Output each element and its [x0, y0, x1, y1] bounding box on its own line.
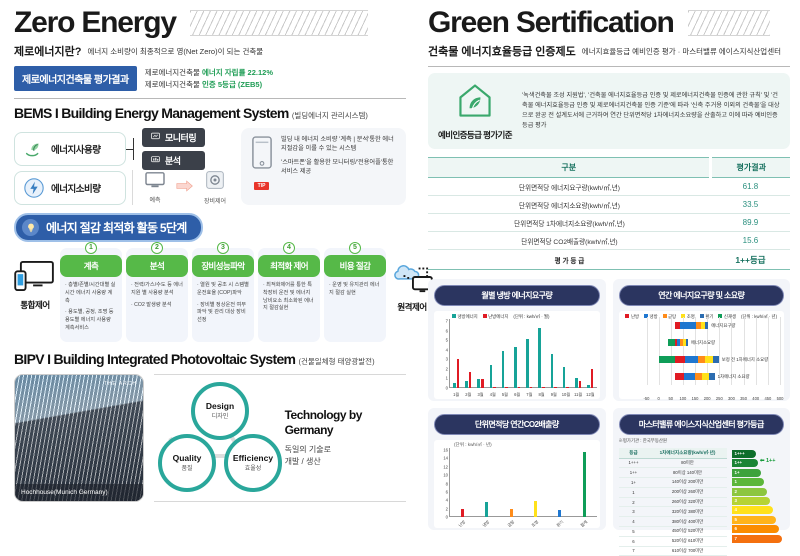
y-tick: 5 [446, 338, 448, 343]
x-axis-monthly: 1월2월3월4월5월6월7월8월9월10월11월12월 [450, 392, 597, 398]
step-body: · 전력/가스/수도 등 에너지원 별 사용량 분석· CO2 발생량 분석 [126, 277, 188, 309]
evaluation-result-row: 제로에너지건축물 평가결과 제로에너지건축물 에너지 자립률 22.12% 제로… [14, 66, 406, 91]
venn-circle-efficiency: Efficiency 효율성 [224, 434, 282, 492]
x-tick: 9월 [548, 392, 560, 398]
bar-group [572, 321, 584, 388]
zeb-grade-value: 인증 5등급 (ZEB5) [202, 80, 262, 89]
x-tick: 4월 [487, 392, 499, 398]
bar [457, 359, 460, 388]
technology-sub1: 독일의 기술로 [285, 444, 406, 456]
x-tick: 8월 [535, 392, 547, 398]
legend-monthly: 냉방에너지난방에너지(단위 : kwh/㎡ · 월) [452, 312, 598, 320]
analysis-label: 분석 [165, 154, 181, 167]
grade-bar-3: 3 [732, 497, 770, 505]
tip-badge: TIP [254, 182, 270, 190]
bar-label: 에너지소요량 [691, 340, 715, 346]
connector-line [126, 132, 142, 166]
photo-caption: Hochhouse(Munich Germany) [15, 484, 143, 501]
step-card-2: 2 분석 · 전력/가스/수도 등 에너지원 별 사용량 분석· CO2 발생량… [126, 248, 188, 342]
hatch-decoration [190, 10, 368, 36]
bar-segment [675, 356, 685, 363]
y-tick: 1 [446, 376, 448, 381]
energy-usage-row: 에너지사용량 모니터링 [14, 128, 231, 170]
table-row: 단위면적당 에너지소요량(kwh/㎡,년)33.5 [428, 196, 790, 214]
bar-stack [675, 373, 715, 380]
building-photo: THE ARCH Hochhouse(Munich Germany) [14, 374, 144, 502]
bar-label: 1차에너지 소요량 [718, 374, 750, 380]
monitor-mobile-icon [14, 279, 56, 296]
bar-segment [684, 373, 696, 380]
leaf-hand-icon [23, 138, 45, 160]
right-page-title: Green Sertification [428, 8, 674, 38]
grade-row: 5450이상 520미만 [619, 526, 727, 536]
bar [591, 369, 594, 388]
x-tick: 10월 [560, 392, 572, 398]
criteria-text: '녹색건축물 조성 지원법', '건축물 에너지효율등급 인증 및 제로에너지건… [522, 91, 780, 132]
bar-row: 1차에너지 소요량 [647, 368, 781, 385]
bar [514, 347, 517, 388]
x-tick: 7월 [523, 392, 535, 398]
criteria-label: 예비인증등급 평가기준 [438, 129, 512, 141]
left-arrow-icon: ⬅ 1++ [760, 458, 776, 464]
predict-item: 예측 [139, 171, 171, 204]
chart-card-grade: 마스터밸류 에이스지식산업센터 평가등급 ※평가기관 : 한국부동산원 등급 1… [613, 408, 791, 530]
energy-consumption-card: 에너지소비량 [14, 171, 126, 205]
gridline [780, 317, 781, 385]
grade-level: 5 [619, 526, 649, 536]
y-tick: 6 [446, 489, 448, 494]
bar-segment [713, 356, 719, 363]
right-subtitle: 건축물 에너지효율등급 인증제도 [428, 43, 576, 59]
step-number: 4 [283, 242, 295, 254]
grade-content: 등급 1차에너지소요량(kwh/㎡·년) 1+++80미만1++80이상 140… [619, 448, 785, 556]
step-body: · 운영 및 유지관리 에너지 절감 실현 [324, 277, 386, 298]
grade-source: ※평가기관 : 한국부동산원 [619, 438, 785, 444]
chart-card-annual: 연간 에너지요구량 및 소요량 난방냉방급탕조명환기신재생(단위 : kwh/㎡… [613, 279, 791, 401]
bar [510, 509, 513, 517]
step-card-4: 4 최적화 제어 · 최적화제어를 통한 특착장비 운전 및 에너지 낭비요소 … [258, 248, 320, 342]
self-sufficiency-row: 제로에너지건축물 에너지 자립률 22.12% [145, 67, 273, 78]
grade-bar-4: 4 [732, 506, 773, 514]
bipv-content: THE ARCH Hochhouse(Munich Germany) Desig… [14, 374, 406, 502]
grade-level: 4 [619, 517, 649, 527]
bar-row: 에너지소요량 [647, 334, 781, 351]
energy-usage-label: 에너지사용량 [51, 142, 100, 156]
cell-category: 단위면적당 1차에너지소요량(kwh/㎡,년) [428, 214, 711, 232]
bar-stack [675, 356, 719, 363]
bar [490, 365, 493, 388]
cell-category: 단위면적당 에너지소요량(kwh/㎡,년) [428, 196, 711, 214]
step-number: 3 [217, 242, 229, 254]
tip-item-2: '스마트폰'을 활용한 모니터링/'전용어플'통한 서비스 제공 [281, 159, 398, 177]
bems-title-text: BEMS I Building Energy Management System [14, 105, 289, 121]
energy-consumption-label: 에너지소비량 [51, 181, 100, 195]
unit-co2: (단위 : kwh/㎡ · 년) [454, 442, 492, 448]
bar-group [499, 450, 523, 517]
zero-energy-question-desc: 에너지 소비량이 최종적으로 영(Net Zero)이 되는 건축물 [87, 46, 263, 57]
bar [587, 385, 590, 388]
bems-content: 에너지사용량 모니터링 [14, 128, 406, 205]
infographic-page: Zero Energy 제로에너지란? 에너지 소비량이 최종적으로 영(Net… [0, 0, 800, 500]
step-heading: 최적화 제어 [258, 255, 320, 277]
x-tick: 12월 [584, 392, 596, 398]
grade-table: 등급 1차에너지소요량(kwh/㎡·년) 1+++80미만1++80이상 140… [619, 448, 727, 556]
bar [534, 501, 537, 517]
grade-row: 7610이상 700미만 [619, 546, 727, 556]
cell-value: 15.6 [711, 232, 790, 250]
equipment-control-item: 장비제어 [199, 170, 231, 205]
bar-stack [675, 339, 688, 346]
grade-bar-5: 5 [732, 516, 777, 524]
bar [554, 387, 557, 388]
venn-diagram: Design 디자인 Quality 품질 Efficiency 효율성 [154, 382, 279, 494]
bar [465, 381, 468, 388]
y-tick: 2 [446, 506, 448, 511]
integrated-control-label: 통합제어 [14, 299, 56, 311]
step-body: · 층별/존별/시간대별 실시간 에너지 사용량 계측· 용도별, 공정, 조명… [60, 277, 122, 333]
y-tick: 0 [446, 515, 448, 520]
step-line: · 최적화제어를 통한 특착장비 운전 및 에너지 낭비요소 최소화된 에너지 … [263, 282, 315, 313]
venn-quality-en: Quality [173, 453, 202, 463]
divider [14, 98, 406, 99]
x-tick: 11월 [572, 392, 584, 398]
evaluation-badge: 제로에너지건축물 평가결과 [14, 66, 137, 91]
cell-category: 단위면적당 CO2배출량(kwh/㎡,년) [428, 232, 711, 250]
venn-efficiency-ko: 효율성 [245, 463, 262, 472]
grade-level: 1++ [619, 468, 649, 478]
steps-holder: 1 계측 · 층별/존별/시간대별 실시간 에너지 사용량 계측· 용도별, 공… [60, 248, 386, 342]
y-tick: 3 [446, 357, 448, 362]
tip-icon-col: TIP [249, 136, 274, 197]
photo-facade [15, 375, 143, 501]
right-subtitle-row: 건축물 에너지효율등급 인증제도 에너지효율등급 예비인증 평가 · 마스터밸류… [428, 43, 790, 59]
bar-group [499, 321, 511, 388]
grade-row: 1+140이상 200미만 [619, 478, 727, 488]
bar-segment [709, 373, 714, 380]
y-tick: 10 [443, 473, 448, 478]
x-tick: 500 [777, 396, 784, 401]
x-tick: 350 [740, 396, 747, 401]
legend-item: 난방 [625, 314, 639, 320]
bar-group [548, 450, 572, 517]
grade-level: 1+++ [619, 458, 649, 468]
bar-group [535, 321, 547, 388]
x-tick: 100 [679, 396, 686, 401]
grade-bar-1+++: 1+++ [732, 450, 756, 458]
predict-control-flow: 예측 장비제어 [132, 170, 231, 205]
bar-group [487, 321, 499, 388]
grade-row: 1200이상 260미만 [619, 487, 727, 497]
step-body: · 열원 및 공조 시 스템별 운전효율 (COP)파악· 장비별 정상운전 여… [192, 277, 254, 325]
bar [461, 509, 464, 517]
th-category: 구분 [428, 158, 711, 178]
grade-th-level: 등급 [619, 448, 649, 458]
criteria-card: 예비인증등급 평가기준 '녹색건축물 조성 지원법', '건축물 에너지효율등급… [428, 73, 790, 149]
venn-efficiency-en: Efficiency [233, 453, 273, 463]
y-tick: 4 [446, 347, 448, 352]
y-tick: 12 [443, 464, 448, 469]
table-header-row: 구분 평가결과 [428, 158, 790, 178]
energy-circle-icon [23, 177, 45, 199]
bar-segment [685, 356, 698, 363]
venn-circle-design: Design 디자인 [191, 382, 249, 440]
step-number: 1 [85, 242, 97, 254]
energy-consumption-row: 에너지소비량 예측 [14, 170, 231, 205]
zeb-grade-row: 제로에너지건축물 인증 5등급 (ZEB5) [145, 79, 273, 90]
bars-co2 [450, 450, 597, 517]
cell-value: 61.8 [711, 178, 790, 196]
x-tick: 150 [692, 396, 699, 401]
plot-annual: 난방냉방급탕조명환기신재생(단위 : kwh/㎡ · 년) 에너지요구량 에너지… [619, 311, 785, 399]
step-line: · 장비별 정상운전 여부파악 및 관리 대상 장비선정 [197, 302, 249, 325]
smartphone-icon [252, 156, 272, 173]
y-tick: 6 [446, 328, 448, 333]
page-title: Zero Energy [14, 8, 176, 38]
technology-title: Technology by Germany [285, 408, 406, 438]
x-tick: 6월 [511, 392, 523, 398]
bar-group [474, 450, 498, 517]
venn-quality-ko: 품질 [181, 463, 192, 472]
bar-row: 보정 전 1차에너지 소요량 [647, 351, 781, 368]
grade-bar-2: 2 [732, 488, 768, 496]
grade-bar-1+: 1+ [732, 469, 762, 477]
bems-title-ko: (빌딩에너지 관리시스템) [292, 111, 368, 120]
divider-right [428, 66, 790, 67]
grade-row: 2260이상 320미만 [619, 497, 727, 507]
step-card-3: 3 장비성능파악 · 열원 및 공조 시 스템별 운전효율 (COP)파악· 장… [192, 248, 254, 342]
right-panel: Green Sertification 건축물 에너지효율등급 인증제도 에너지… [420, 0, 800, 500]
chip-group: 모니터링 분석 [142, 128, 205, 170]
y-tick: 16 [443, 448, 448, 453]
display-icon [144, 176, 166, 193]
bar-group [462, 321, 474, 388]
charts-grid: 월별 냉방 에너지요구량 냉방에너지난방에너지(단위 : kwh/㎡ · 월) … [428, 279, 790, 530]
table-row: 단위면적당 1차에너지소요량(kwh/㎡,년)89.9 [428, 214, 790, 232]
y-tick: 4 [446, 498, 448, 503]
five-step-banner-label: 에너지 절감 최적화 활동 5단계 [46, 219, 187, 236]
bar-group [560, 321, 572, 388]
arrow-right-icon [176, 179, 194, 197]
grade-row: 6520이상 610미만 [619, 536, 727, 546]
grade-row: 4380이상 400미만 [619, 517, 727, 527]
monitor-icon [151, 132, 160, 143]
grade-row: 1++80이상 140미만 [619, 468, 727, 478]
x-tick: 5월 [499, 392, 511, 398]
y-tick: 7 [446, 319, 448, 324]
bar-group [450, 450, 474, 517]
venn-circle-quality: Quality 품질 [158, 434, 216, 492]
venn-design-en: Design [206, 401, 234, 411]
evaluation-table: 구분 평가결과 단위면적당 에너지요구량(kwh/㎡,년)61.8단위면적당 에… [428, 157, 790, 270]
x-tick: 2월 [462, 392, 474, 398]
tip-box: TIP 빌딩 내 에너지 소비량 '계측 | 분석'통한 에너지절감을 이룰 수… [241, 128, 406, 205]
bar [477, 379, 480, 388]
grade-level: 6 [619, 536, 649, 546]
y-axis-monthly: 01234567 [434, 321, 450, 388]
grade-bar-1++: 1++ [732, 459, 759, 467]
technology-sub2: 개발 / 생산 [285, 456, 406, 468]
bems-section-title: BEMS I Building Energy Management System… [14, 105, 406, 121]
photo-brand: THE ARCH [104, 381, 137, 387]
five-steps-row: 통합제어 1 계측 · 층별/존별/시간대별 실시간 에너지 사용량 계측· 용… [14, 248, 406, 342]
bar-segment [675, 373, 684, 380]
bar-segment [705, 322, 708, 329]
bar [551, 354, 554, 388]
bar-group [474, 321, 486, 388]
bar [526, 339, 529, 388]
grade-level: 7 [619, 546, 649, 556]
grade-level: 1+ [619, 478, 649, 488]
x-tick: 400 [752, 396, 759, 401]
chart-card-co2: 단위면적당 연간CO2배출량 (단위 : kwh/㎡ · 년) 02468101… [428, 408, 606, 530]
evaluation-values: 제로에너지건축물 에너지 자립률 22.12% 제로에너지건축물 인증 5등급 … [145, 67, 273, 90]
grade-table-body: 1+++80미만1++80이상 140미만1+140이상 200미만1200이상… [619, 458, 727, 556]
bar [518, 387, 521, 388]
bar-group [584, 321, 596, 388]
grade-th-energy: 1차에너지소요량(kwh/㎡·년) [649, 448, 727, 458]
step-heading: 분석 [126, 255, 188, 277]
step-line: · 운영 및 유지관리 에너지 절감 실현 [329, 282, 381, 298]
step-number: 2 [151, 242, 163, 254]
y-tick: 8 [446, 481, 448, 486]
y-tick: 0 [446, 386, 448, 391]
bar [575, 378, 578, 388]
bipv-section-title: BIPV I Building Integrated Photovoltaic … [14, 351, 406, 367]
equipment-control-label: 장비제어 [199, 196, 231, 205]
venn-design-ko: 디자인 [212, 411, 229, 420]
plot-co2: (단위 : kwh/㎡ · 년) 0246810121416 난방냉방급탕조명환… [434, 440, 600, 528]
grade-bars: 1+++1++⬅ 1++1+1234567 [732, 448, 785, 556]
grade-level: 3 [619, 507, 649, 517]
predict-label: 예측 [139, 195, 171, 204]
bars-annual: 에너지요구량 에너지소요량 보정 전 1차에너지 소요량 1차에너지 소요량 [647, 317, 781, 385]
y-axis-co2: 0246810121416 [434, 450, 450, 517]
right-subtitle-desc: 에너지효율등급 예비인증 평가 · 마스터밸류 에이스지식산업센터 [582, 46, 781, 57]
cell-value: 1++등급 [711, 250, 790, 270]
legend-item: 냉방에너지 [452, 314, 478, 320]
bar [502, 351, 505, 388]
grade-range: 200이상 260미만 [649, 487, 727, 497]
bar-group [511, 321, 523, 388]
monitoring-chip: 모니터링 [142, 128, 205, 147]
th-result: 평가결과 [711, 158, 790, 178]
chart-title-annual: 연간 에너지요구량 및 소요량 [619, 285, 785, 306]
bar-row: 에너지요구량 [647, 317, 781, 334]
step-heading: 장비성능파악 [192, 255, 254, 277]
bar-stack [675, 322, 709, 329]
x-tick: 1월 [450, 392, 462, 398]
bar [542, 387, 545, 388]
bar-group [572, 450, 596, 517]
bar [481, 379, 484, 388]
bar [563, 367, 566, 388]
chart-title-monthly: 월별 냉방 에너지요구량 [434, 285, 600, 306]
analysis-chip: 분석 [142, 151, 205, 170]
grade-range: 320이상 380미만 [649, 507, 727, 517]
grade-range: 260이상 320미만 [649, 497, 727, 507]
bulb-icon [22, 219, 39, 236]
x-tick: -50 [644, 396, 650, 401]
plot-monthly: 냉방에너지난방에너지(단위 : kwh/㎡ · 월) 01234567 1월2월… [434, 311, 600, 399]
grade-range: 80미만 [649, 458, 727, 468]
grade-range: 520이상 610미만 [649, 536, 727, 546]
tip-text-col: 빌딩 내 에너지 소비량 '계측 | 분석'통한 에너지절감을 이룰 수 있는 … [281, 136, 398, 197]
y-tick: 14 [443, 456, 448, 461]
self-sufficiency-label: 제로에너지건축물 [145, 68, 202, 77]
grade-level: 2 [619, 497, 649, 507]
bar-group [548, 321, 560, 388]
bar [583, 452, 586, 517]
legend-unit: (단위 : kwh/㎡ · 월) [513, 314, 549, 320]
step-line: · CO2 발생량 분석 [131, 302, 183, 310]
step-number: 5 [349, 242, 361, 254]
bar-group [450, 321, 462, 388]
table-row-total: 평 가 등 급1++등급 [428, 250, 790, 270]
bar [505, 387, 508, 388]
grade-header-row: 등급 1차에너지소요량(kwh/㎡·년) [619, 448, 727, 458]
analysis-icon [151, 155, 160, 166]
x-axis-co2: 난방냉방급탕조명환기합계 [450, 521, 597, 527]
step-card-1: 1 계측 · 층별/존별/시간대별 실시간 에너지 사용량 계측· 용도별, 공… [60, 248, 122, 342]
step-heading: 비용 절감 [324, 255, 386, 277]
chart-title-co2: 단위면적당 연간CO2배출량 [434, 414, 600, 435]
left-header: Zero Energy [14, 8, 406, 38]
grade-bar-6: 6 [732, 525, 780, 533]
step-heading: 계측 [60, 255, 122, 277]
table-row: 단위면적당 에너지요구량(kwh/㎡,년)61.8 [428, 178, 790, 196]
bar [538, 328, 541, 388]
venn-section: Design 디자인 Quality 품질 Efficiency 효율성 Tec… [154, 374, 406, 502]
bar [566, 387, 569, 388]
grade-level: 1 [619, 487, 649, 497]
grade-range: 450이상 520미만 [649, 526, 727, 536]
left-panel: Zero Energy 제로에너지란? 에너지 소비량이 최종적으로 영(Net… [0, 0, 420, 500]
bar-group [523, 321, 535, 388]
grade-range: 140이상 200미만 [649, 478, 727, 488]
x-tick: 3월 [474, 392, 486, 398]
cell-category: 평 가 등 급 [428, 250, 711, 270]
bar-group [523, 450, 547, 517]
step-line: · 용도별, 공정, 조명 등 용도별 에너지 사용량 계측서비스 [65, 309, 117, 332]
chart-card-monthly: 월별 냉방 에너지요구량 냉방에너지난방에너지(단위 : kwh/㎡ · 월) … [428, 279, 606, 401]
energy-usage-card: 에너지사용량 [14, 132, 126, 166]
bar-segment [705, 356, 713, 363]
grade-row: 1+++80미만 [619, 458, 727, 468]
bar-segment-negative [659, 356, 674, 363]
technology-sub: 독일의 기술로 개발 / 생산 [285, 444, 406, 468]
cell-value: 89.9 [711, 214, 790, 232]
zero-energy-question-row: 제로에너지란? 에너지 소비량이 최종적으로 영(Net Zero)이 되는 건… [14, 43, 406, 59]
integrated-control-block: 통합제어 [14, 248, 56, 311]
x-tick: 0 [657, 396, 659, 401]
five-step-banner: 에너지 절감 최적화 활동 5단계 [14, 213, 203, 242]
cell-value: 33.5 [711, 196, 790, 214]
grade-range: 380이상 400미만 [649, 517, 727, 527]
bipv-title-text: BIPV I Building Integrated Photovoltaic … [14, 351, 295, 367]
bar [530, 387, 533, 388]
step-body: · 최적화제어를 통한 특착장비 운전 및 에너지 낭비요소 최소화된 에너지 … [258, 277, 320, 313]
grade-range: 610이상 700미만 [649, 546, 727, 556]
criteria-icon-col: 예비인증등급 평가기준 [438, 81, 512, 141]
zero-energy-question: 제로에너지란? [14, 43, 81, 59]
grade-range: 80이상 140미만 [649, 468, 727, 478]
bar-segment [702, 373, 710, 380]
grade-bar-1: 1 [732, 478, 765, 486]
bar [485, 502, 488, 517]
tip-item-1: 빌딩 내 에너지 소비량 '계측 | 분석'통한 에너지절감을 이룰 수 있는 … [281, 136, 398, 154]
bipv-title-ko: (건물일체형 태양광발전) [299, 357, 375, 366]
zeb-grade-label: 제로에너지건축물 [145, 80, 202, 89]
